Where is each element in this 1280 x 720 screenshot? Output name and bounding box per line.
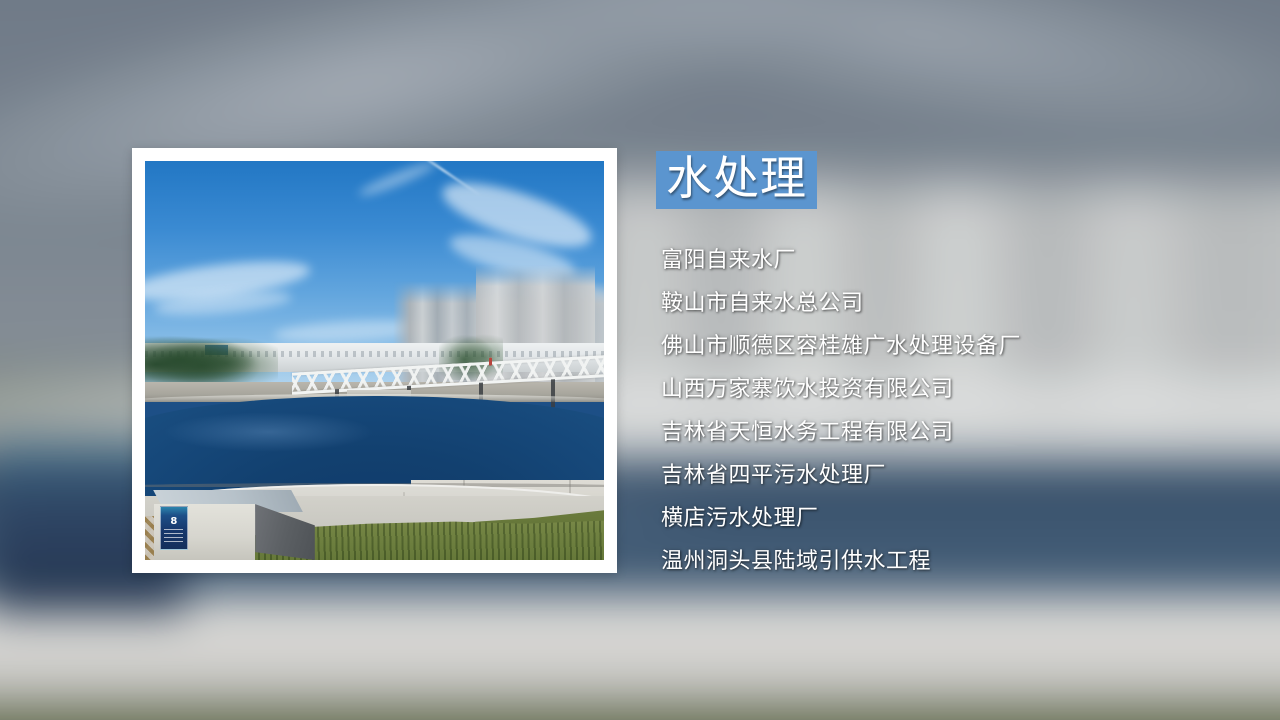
list-item: 吉林省天恒水务工程有限公司 — [656, 411, 1256, 454]
photo-frame: 8 — [132, 148, 617, 573]
company-list: 富阳自来水厂 鞍山市自来水总公司 佛山市顺德区容桂雄广水处理设备厂 山西万家寨饮… — [656, 239, 1256, 583]
water-treatment-plant-photo: 8 — [145, 161, 604, 560]
background-concrete-seam — [0, 683, 1280, 700]
slide-canvas: 8 水处理 富阳自来水厂 鞍山市自来水总公司 佛山市顺德区容桂雄广水处理设备厂 … — [0, 0, 1280, 720]
list-item: 佛山市顺德区容桂雄广水处理设备厂 — [656, 325, 1256, 368]
photo-sign-textlines — [164, 529, 183, 543]
list-item: 富阳自来水厂 — [656, 239, 1256, 282]
bridge-person — [489, 357, 492, 366]
photo-sign-number: 8 — [161, 517, 187, 527]
content-panel: 水处理 富阳自来水厂 鞍山市自来水总公司 佛山市顺德区容桂雄广水处理设备厂 山西… — [656, 151, 1256, 583]
list-item: 横店污水处理厂 — [656, 497, 1256, 540]
list-item: 鞍山市自来水总公司 — [656, 282, 1256, 325]
photo-trees-left — [145, 329, 278, 389]
section-title-badge: 水处理 — [656, 151, 817, 209]
page-title: 水处理 — [666, 151, 807, 205]
background-grass — [0, 704, 1280, 720]
list-item: 山西万家寨饮水投资有限公司 — [656, 368, 1256, 411]
list-item: 温州洞头县陆域引供水工程 — [656, 540, 1256, 583]
photo-blue-info-sign: 8 — [160, 506, 188, 550]
list-item: 吉林省四平污水处理厂 — [656, 454, 1256, 497]
